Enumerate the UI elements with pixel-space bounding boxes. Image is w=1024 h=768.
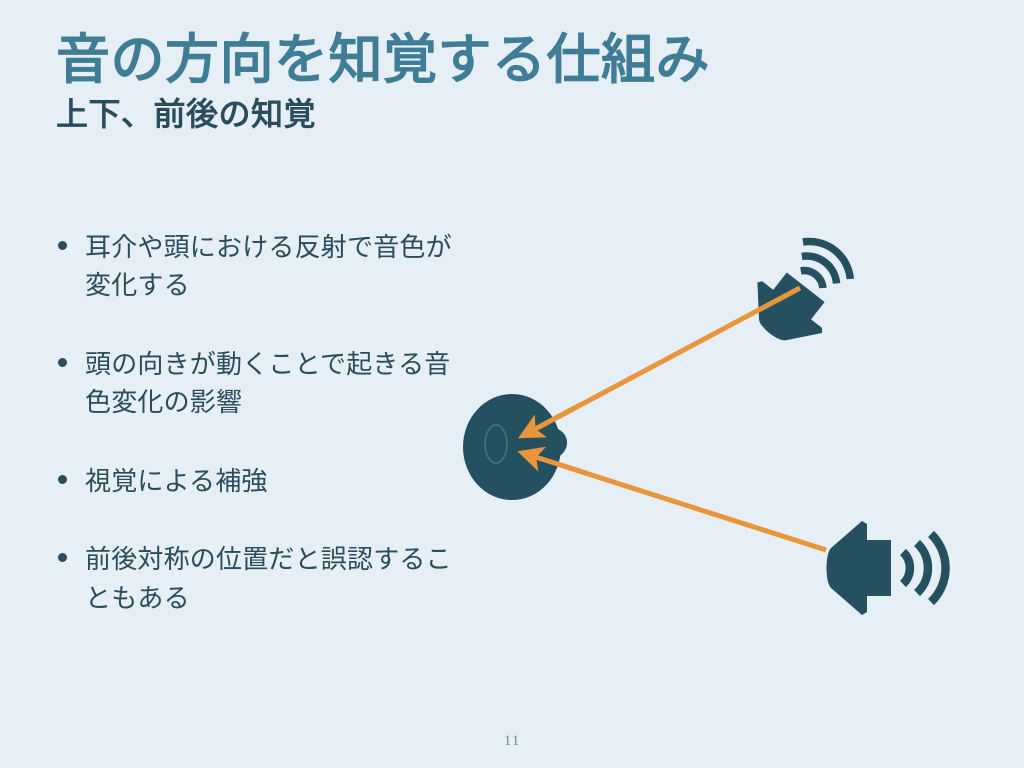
bullet-dot-icon bbox=[58, 475, 67, 484]
page-title: 音の方向を知覚する仕組み bbox=[56, 30, 876, 90]
bullet-text: 頭の向きが動くことで起きる音色変化の影響 bbox=[85, 345, 472, 422]
bullet-dot-icon bbox=[58, 241, 67, 250]
title-block: 音の方向を知覚する仕組み 上下、前後の知覚 bbox=[56, 30, 876, 133]
page-subtitle: 上下、前後の知覚 bbox=[56, 96, 876, 133]
bullet-text: 視覚による補強 bbox=[85, 462, 472, 500]
speaker-lower-icon bbox=[827, 521, 946, 615]
listener-head-icon bbox=[463, 394, 567, 500]
page-number: 11 bbox=[0, 733, 1024, 750]
list-item: 頭の向きが動くことで起きる音色変化の影響 bbox=[52, 345, 472, 422]
bullet-text: 前後対称の位置だと誤認することもある bbox=[85, 540, 472, 617]
speaker-upper-icon bbox=[737, 225, 867, 359]
bullet-text: 耳介や頭における反射で音色が変化する bbox=[85, 228, 472, 305]
slide: 音の方向を知覚する仕組み 上下、前後の知覚 耳介や頭における反射で音色が変化する… bbox=[0, 0, 1024, 768]
bullet-list: 耳介や頭における反射で音色が変化する 頭の向きが動くことで起きる音色変化の影響 … bbox=[52, 228, 472, 617]
bullet-dot-icon bbox=[58, 358, 67, 367]
list-item: 視覚による補強 bbox=[52, 462, 472, 500]
sound-localization-diagram bbox=[440, 200, 1000, 640]
bullet-dot-icon bbox=[58, 553, 67, 562]
list-item: 耳介や頭における反射で音色が変化する bbox=[52, 228, 472, 305]
list-item: 前後対称の位置だと誤認することもある bbox=[52, 540, 472, 617]
